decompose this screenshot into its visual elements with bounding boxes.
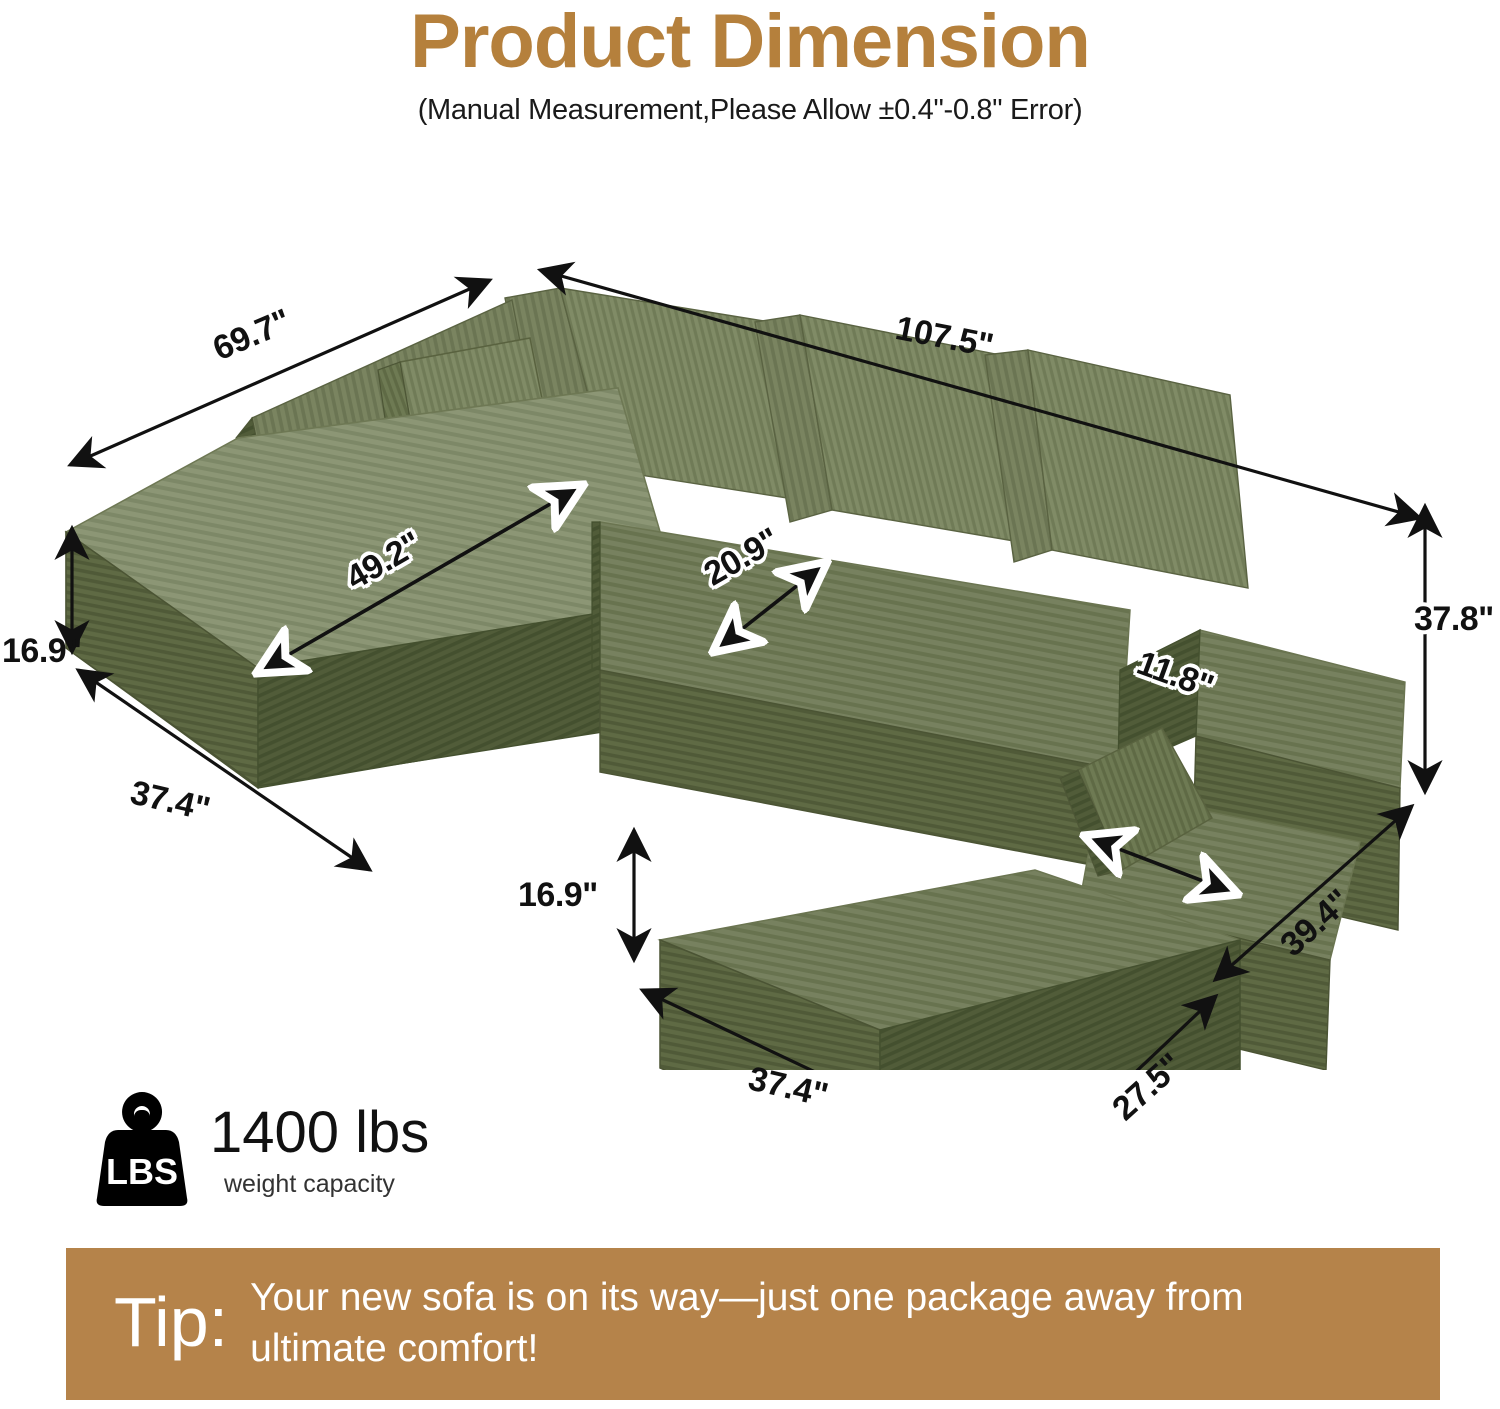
weight-capacity-value: 1400 lbs (210, 1104, 429, 1162)
weight-capacity-caption: weight capacity (224, 1170, 429, 1199)
dim-label-ottoman-height: 16.9" (518, 876, 598, 915)
product-illustration: 69.7" 107.5" 49.2" 20.9" 37.8" 16.9" 11.… (0, 170, 1500, 1070)
measurement-disclaimer: (Manual Measurement,Please Allow ±0.4"-0… (0, 94, 1500, 127)
tip-banner: Tip: Your new sofa is on its way—just on… (66, 1248, 1440, 1400)
dim-label-seat-height-left: 16.9" (2, 632, 82, 671)
backrest-cushion-right (985, 350, 1248, 588)
page-title: Product Dimension (0, 0, 1500, 80)
tip-label: Tip: (114, 1287, 228, 1357)
weight-capacity-badge: LBS 1400 lbs weight capacity (88, 1088, 429, 1208)
weight-icon-text: LBS (106, 1151, 178, 1192)
center-seat-left-face (592, 522, 600, 670)
weight-icon: LBS (88, 1088, 196, 1208)
dim-label-overall-height: 37.8" (1414, 600, 1494, 639)
tip-text: Your new sofa is on its way—just one pac… (250, 1273, 1390, 1374)
header: Product Dimension (Manual Measurement,Pl… (0, 0, 1500, 127)
